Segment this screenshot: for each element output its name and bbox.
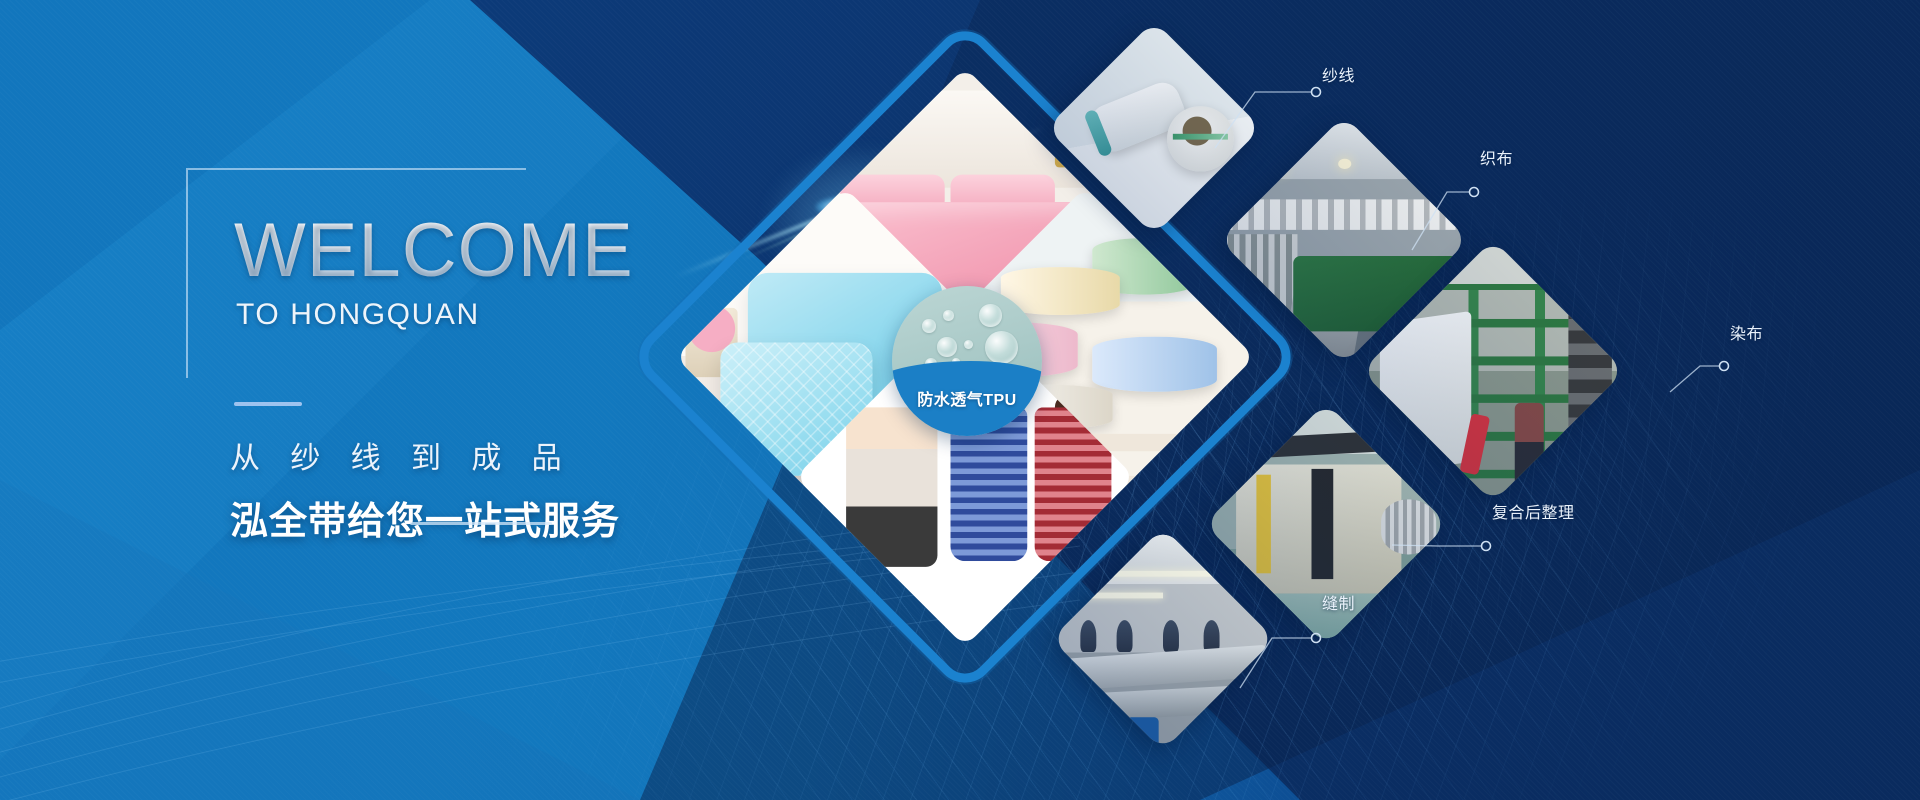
process-label-lamination: 复合后整理 <box>1492 499 1575 523</box>
tagline: 从 纱 线 到 成 品 <box>230 440 573 478</box>
tpu-badge[interactable]: 防水透气TPU <box>892 286 1042 436</box>
divider-long <box>410 522 552 525</box>
welcome-title: WELCOME <box>234 212 634 290</box>
tpu-badge-label: 防水透气TPU <box>892 386 1042 410</box>
process-label-weaving: 织布 <box>1480 145 1513 169</box>
process-label-sewing: 缝制 <box>1322 590 1355 614</box>
process-label-dyeing: 染布 <box>1730 320 1763 344</box>
welcome-banner: WELCOME TO HONGQUAN 从 纱 线 到 成 品 泓全带给您一站式… <box>0 0 1920 800</box>
process-label-yarn: 纱线 <box>1322 62 1355 86</box>
divider-short <box>234 402 302 406</box>
brand-subtitle: TO HONGQUAN <box>236 298 480 332</box>
